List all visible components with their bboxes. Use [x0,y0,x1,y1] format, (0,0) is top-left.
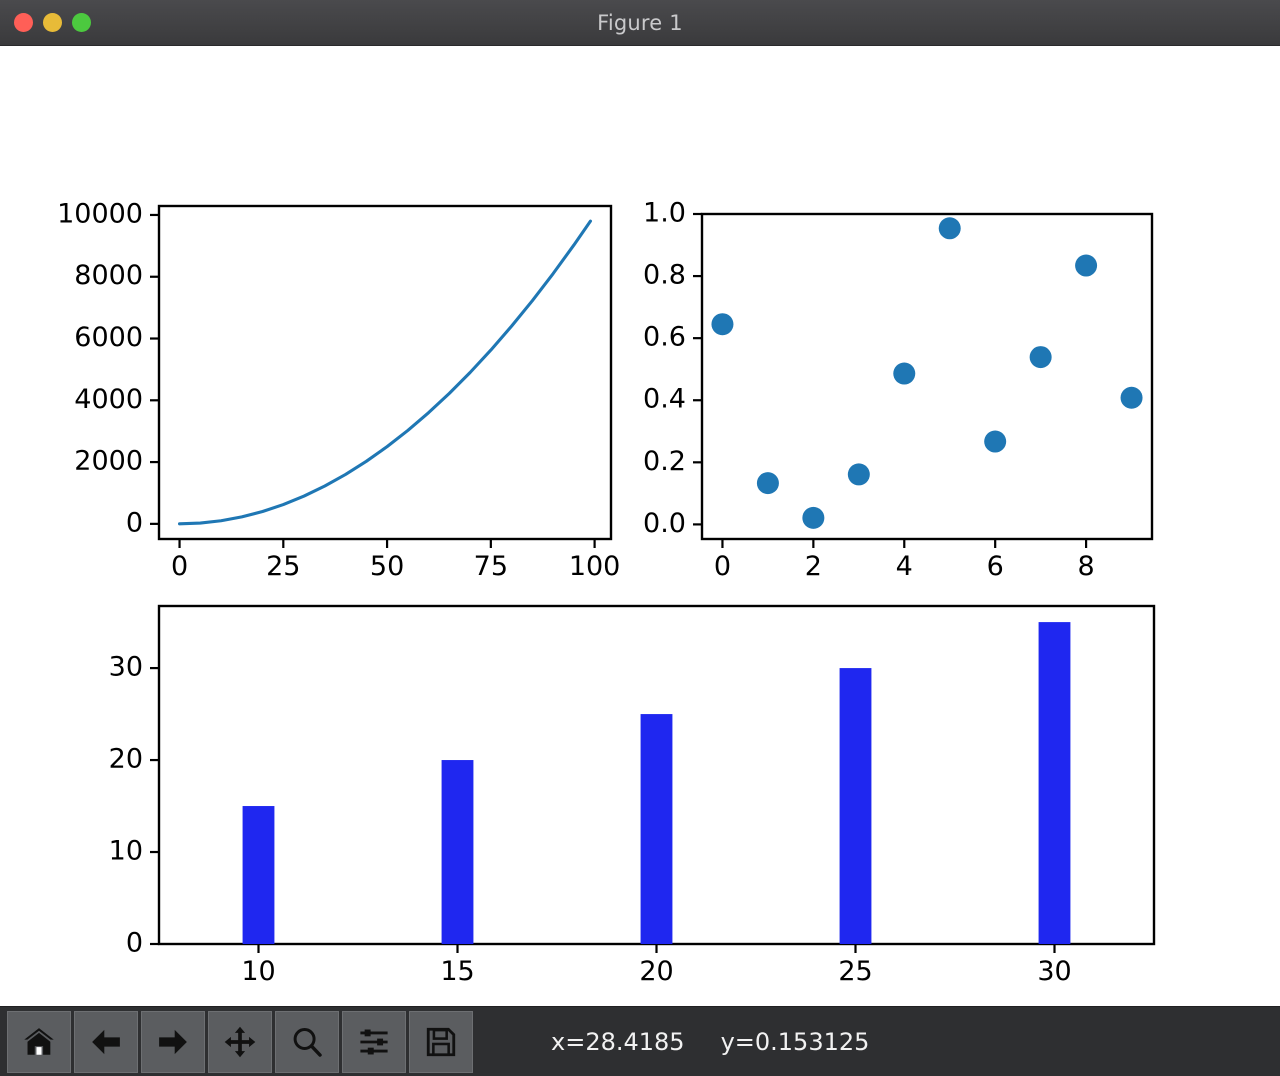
y-ticklabel: 0.8 [643,260,686,291]
y-ticklabel: 20 [109,744,143,775]
x-ticklabel: 50 [370,551,404,582]
bar [641,714,673,944]
close-button[interactable] [14,13,33,32]
x-ticklabel: 25 [838,956,872,987]
y-ticklabel: 10 [109,836,143,867]
x-ticklabel: 0 [714,551,731,582]
y-ticklabel: 2000 [74,446,143,477]
y-ticklabel: 30 [109,652,143,683]
forward-button[interactable] [141,1011,205,1073]
back-button[interactable] [74,1011,138,1073]
minimize-button[interactable] [43,13,62,32]
back-arrow-icon [87,1025,125,1059]
y-ticklabel: 4000 [74,384,143,415]
x-ticklabel: 6 [987,551,1004,582]
zoom-magnifier-icon [288,1025,326,1059]
home-icon [20,1025,58,1059]
scatter-point [848,463,870,485]
x-ticklabel: 4 [896,551,913,582]
y-ticklabel: 0.0 [643,508,686,539]
scatter-point [802,507,824,529]
x-ticklabel: 15 [440,956,474,987]
window-controls [14,13,91,32]
coordinate-readout: x=28.4185 y=0.153125 [551,1028,869,1056]
navigation-toolbar: x=28.4185 y=0.153125 [0,1006,1280,1076]
bar [243,806,275,944]
y-ticklabel: 8000 [74,260,143,291]
maximize-button[interactable] [72,13,91,32]
bar [840,668,872,944]
scatter-point [1121,387,1143,409]
y-ticklabel: 10000 [57,198,143,229]
scatter-point [893,363,915,385]
x-ticklabel: 100 [569,551,621,582]
bar [442,760,474,944]
x-ticklabel: 2 [805,551,822,582]
forward-arrow-icon [154,1025,192,1059]
scatter-point [1030,346,1052,368]
y-ticklabel: 0.2 [643,446,686,477]
matplotlib-figure[interactable]: 020004000600080001000002550751000.00.20.… [0,46,1280,1006]
figure-window: Figure 1 0200040006000800010000025507510… [0,0,1280,1076]
zoom-button[interactable] [275,1011,339,1073]
axes-scatter-plot[interactable]: 0.00.20.40.60.81.002468 [643,198,1152,583]
scatter-point [1075,255,1097,277]
y-ticklabel: 6000 [74,322,143,353]
x-ticklabel: 75 [474,551,508,582]
y-ticklabel: 1.0 [643,198,686,229]
scatter-point [711,313,733,335]
x-ticklabel: 10 [241,956,275,987]
y-ticklabel: 0.4 [643,384,686,415]
scatter-point [757,472,779,494]
x-ticklabel: 8 [1077,551,1094,582]
y-ticklabel: 0 [126,507,143,538]
window-titlebar: Figure 1 [0,0,1280,46]
x-ticklabel: 20 [639,956,673,987]
scatter-point [939,217,961,239]
pan-move-icon [221,1025,259,1059]
save-button[interactable] [409,1011,473,1073]
axes-line-plot[interactable]: 02000400060008000100000255075100 [57,198,620,582]
y-ticklabel: 0 [126,928,143,959]
pan-button[interactable] [208,1011,272,1073]
scatter-point [984,431,1006,453]
home-button[interactable] [7,1011,71,1073]
configure-sliders-icon [355,1025,393,1059]
x-ticklabel: 30 [1037,956,1071,987]
window-title: Figure 1 [0,11,1280,35]
x-ticklabel: 0 [171,551,188,582]
toolbar-button-group [0,1011,473,1073]
coordinate-x: x=28.4185 [551,1028,685,1056]
bar [1039,622,1071,944]
x-ticklabel: 25 [266,551,300,582]
configure-subplots-button[interactable] [342,1011,406,1073]
plot-frame [159,206,611,539]
y-ticklabel: 0.6 [643,322,686,353]
save-floppy-icon [422,1025,460,1059]
coordinate-y: y=0.153125 [721,1028,870,1056]
axes-bar-chart[interactable]: 01020301015202530 [109,606,1154,987]
figure-canvas[interactable]: 020004000600080001000002550751000.00.20.… [0,46,1280,1006]
